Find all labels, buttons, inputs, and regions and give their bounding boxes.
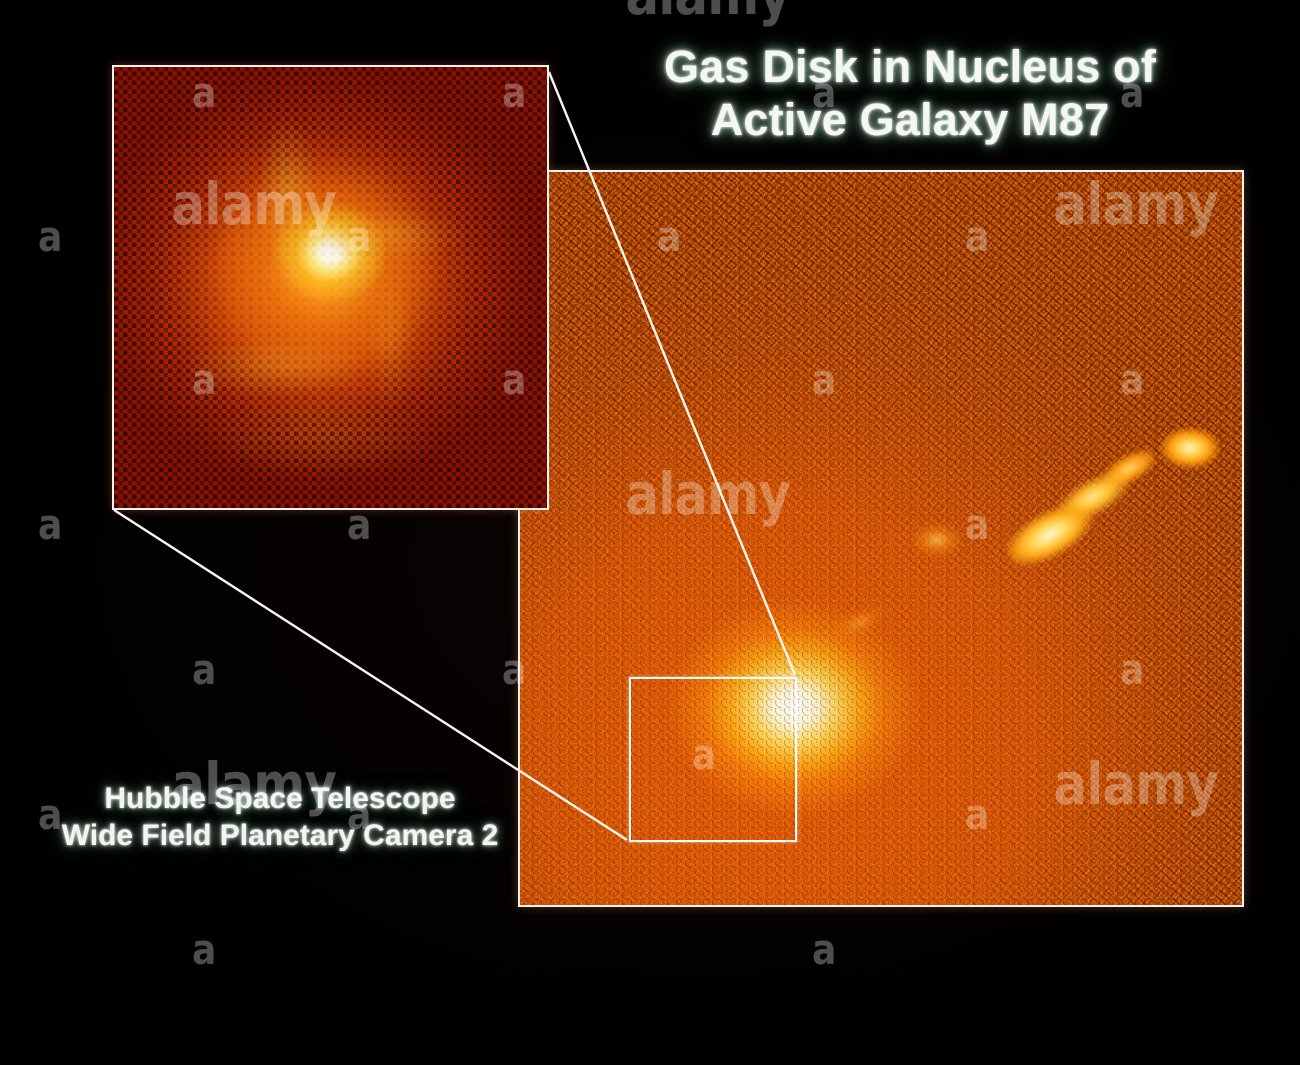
instrument-caption: Hubble Space Telescope Wide Field Planet…	[10, 780, 550, 854]
watermark-glyph: a	[812, 925, 836, 974]
jet-knot-feature	[1155, 422, 1225, 474]
watermark-glyph: a	[192, 925, 216, 974]
inset-image-panel[interactable]	[112, 65, 549, 510]
slide-photo-area: Gas Disk in Nucleus of Active Galaxy M87…	[0, 0, 1300, 975]
alamy-footer-bar: alamy Image ID: 2ADME5G www.alamy.com	[0, 975, 1300, 1065]
page-title: Gas Disk in Nucleus of Active Galaxy M87	[560, 40, 1260, 146]
zoom-region-box[interactable]	[629, 677, 797, 842]
watermark-glyph: a	[192, 645, 216, 694]
inset-image-noise-layer-2	[114, 67, 547, 508]
watermark-glyph: a	[38, 500, 62, 549]
watermark-wordmark: alamy	[625, 0, 790, 28]
jet-faint-knot-feature	[905, 517, 969, 563]
watermark-glyph: a	[38, 212, 62, 261]
screenshot-stage: Gas Disk in Nucleus of Active Galaxy M87…	[0, 0, 1300, 1065]
main-image-panel[interactable]	[518, 170, 1244, 907]
